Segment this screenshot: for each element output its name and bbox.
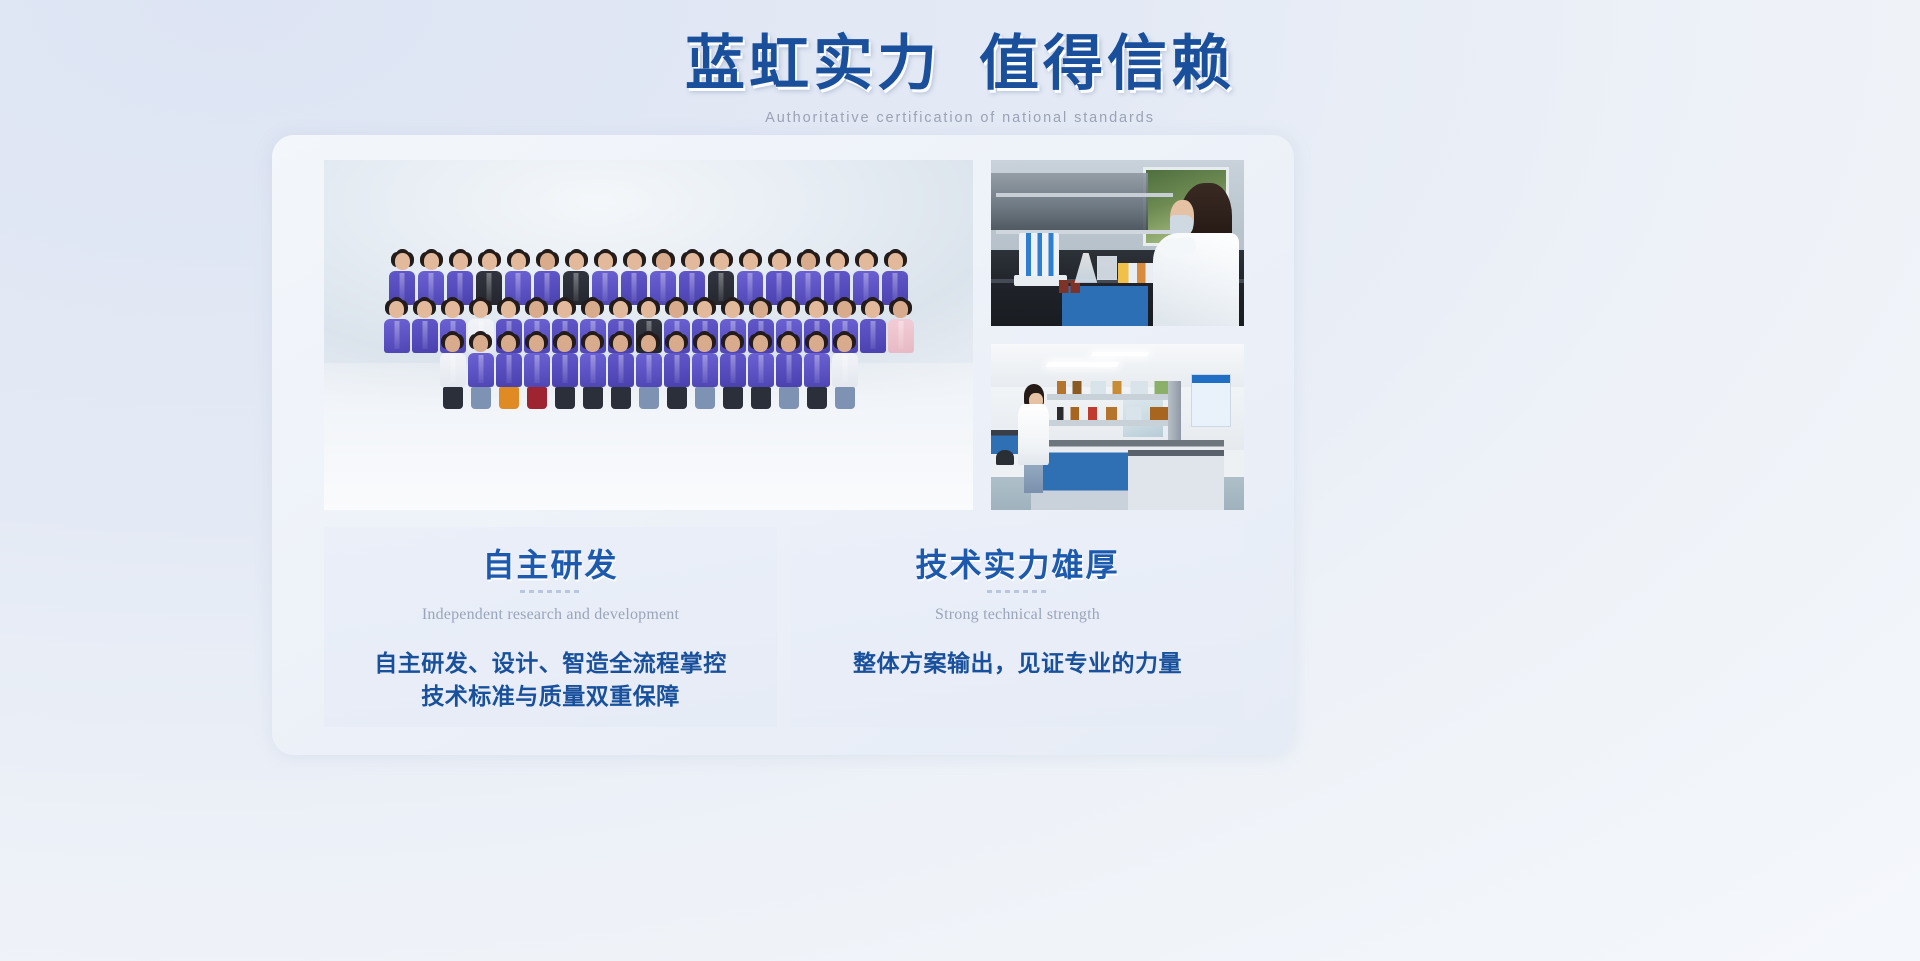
lab-technician xyxy=(1153,180,1239,326)
side-photo-column xyxy=(991,160,1244,510)
feature-cards: 自主研发 Independent research and developmen… xyxy=(324,527,1244,727)
lab-stool xyxy=(996,450,1014,465)
feature-card-independent-rd[interactable]: 自主研发 Independent research and developmen… xyxy=(324,527,777,727)
media-gallery xyxy=(324,160,1244,510)
pipette-rack xyxy=(1019,233,1059,276)
team-group-photo[interactable] xyxy=(324,160,973,510)
page-subtitle: Authoritative certification of national … xyxy=(0,110,1920,126)
card-title: 技术实力雄厚 xyxy=(791,545,1244,585)
card-subtitle: Independent research and development xyxy=(324,606,777,624)
content-panel: 自主研发 Independent research and developmen… xyxy=(272,135,1294,755)
photo-people-group xyxy=(324,188,973,405)
lab-researcher xyxy=(1016,384,1049,494)
beaker xyxy=(1097,256,1117,279)
feature-card-technical-strength[interactable]: 技术实力雄厚 Strong technical strength 整体方案输出，… xyxy=(791,527,1244,727)
people-row-front xyxy=(324,335,973,409)
lab-technician-photo[interactable] xyxy=(991,160,1244,326)
dotted-divider-icon xyxy=(987,590,1049,593)
wall-poster xyxy=(1191,374,1231,427)
page-header: 蓝虹实力 值得信赖 Authoritative certification of… xyxy=(0,26,1920,126)
sample-rack xyxy=(1118,263,1153,283)
page-title: 蓝虹实力 值得信赖 xyxy=(0,26,1920,102)
card-description: 整体方案输出，见证专业的力量 xyxy=(791,647,1244,680)
laboratory-overview-scene xyxy=(991,344,1244,510)
lab-coat xyxy=(1018,404,1048,465)
card-title: 自主研发 xyxy=(324,545,777,585)
laboratory-overview-photo[interactable] xyxy=(991,344,1244,510)
lab-technician-scene xyxy=(991,160,1244,326)
card-description: 自主研发、设计、智造全流程掌控 技术标准与质量双重保障 xyxy=(324,647,777,713)
card-subtitle: Strong technical strength xyxy=(791,606,1244,624)
dotted-divider-icon xyxy=(520,590,582,593)
people-row-back xyxy=(324,253,973,305)
